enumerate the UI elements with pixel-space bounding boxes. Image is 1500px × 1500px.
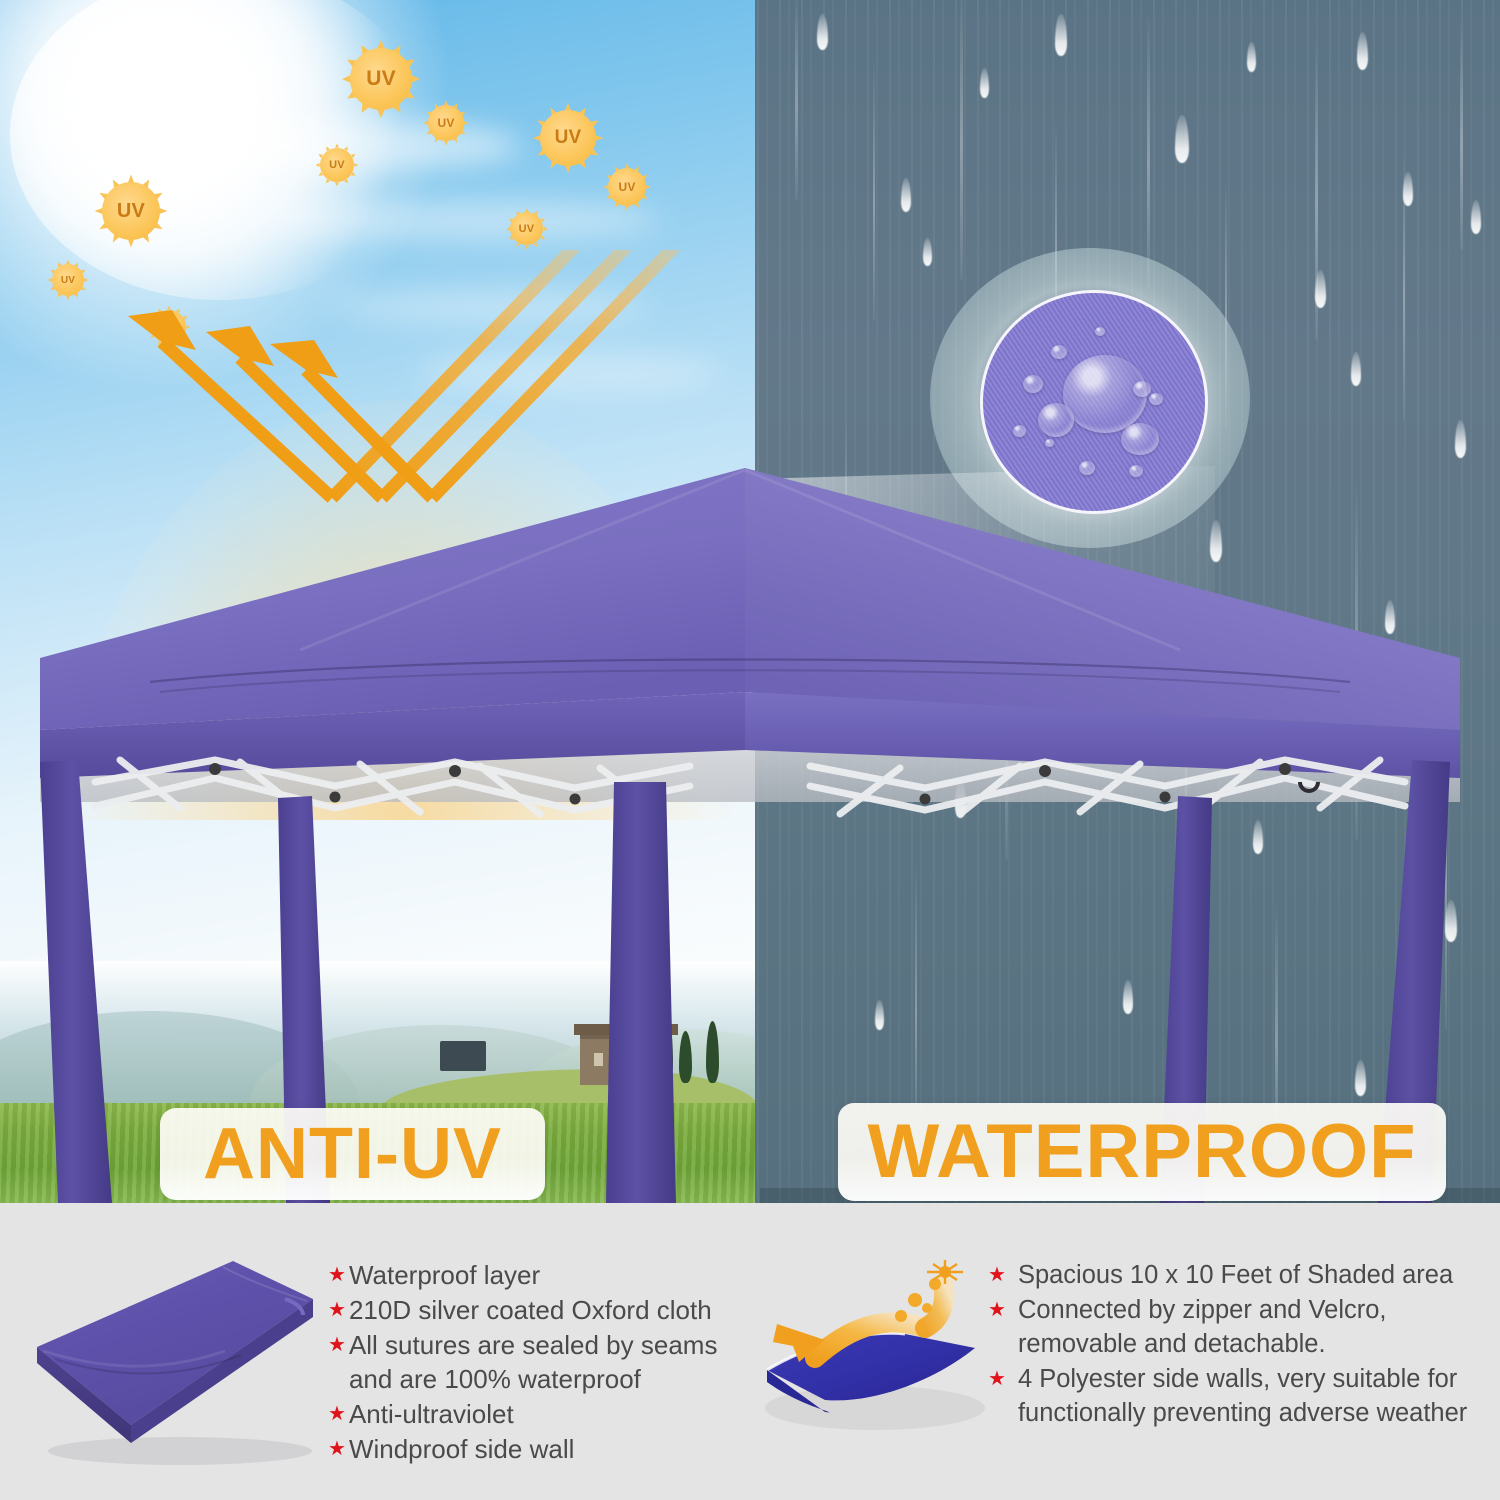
sun-ray (525, 245, 529, 249)
rain-drop (1351, 352, 1361, 386)
uv-sun-icon: UV (608, 168, 646, 206)
water-bead (1133, 381, 1151, 397)
uv-sun-icon: UV (350, 48, 412, 110)
sun-ray (646, 185, 651, 189)
spec-item: ★ 210D silver coated Oxford cloth (328, 1293, 718, 1327)
sun-ray (565, 165, 571, 173)
sun-ray (595, 135, 603, 141)
spec-item: ★ Waterproof layer (328, 1258, 718, 1292)
anti-uv-banner: ANTI-UV (160, 1108, 545, 1200)
product-infographic: UV UV UV UV UV UV UV UV (0, 0, 1500, 1500)
rain-drop (1471, 200, 1481, 234)
waterproof-banner-label: WATERPROOF (867, 1114, 1416, 1190)
spec-text: Spacious 10 x 10 Feet of Shaded area (1018, 1258, 1453, 1292)
uv-sun-icon: UV (102, 182, 160, 240)
sun-ray (464, 121, 469, 125)
uv-sun-label: UV (540, 110, 596, 166)
uv-sun-label: UV (350, 48, 412, 110)
sun-ray (316, 163, 320, 167)
spec-item: ★ Connected by zipper and Velcro, remova… (988, 1293, 1480, 1361)
sun-ray (84, 278, 88, 282)
sun-ray (543, 227, 547, 231)
uv-sun-icon: UV (428, 105, 464, 141)
sun-ray (444, 141, 448, 146)
rain-drop (1247, 42, 1256, 72)
sun-ray (335, 144, 339, 148)
rain-drop (817, 14, 828, 50)
sun-ray (411, 75, 420, 83)
spec-text: 210D silver coated Oxford cloth (349, 1293, 712, 1327)
canopy-tent (0, 430, 1500, 1203)
uv-sun-icon: UV (540, 110, 596, 166)
star-bullet-icon: ★ (328, 1397, 346, 1431)
rain-drop (923, 238, 932, 266)
spec-list-right: ★ Spacious 10 x 10 Feet of Shaded area ★… (988, 1258, 1480, 1431)
rain-drop (1403, 172, 1413, 206)
spec-item: ★ Spacious 10 x 10 Feet of Shaded area (988, 1258, 1480, 1292)
spec-item: ★ 4 Polyester side walls, very suitable … (988, 1362, 1480, 1430)
star-bullet-icon: ★ (988, 1362, 1006, 1396)
sun-ray (66, 296, 70, 300)
rain-drop (901, 178, 911, 212)
star-bullet-icon: ★ (328, 1432, 346, 1466)
spec-text: Anti-ultraviolet (349, 1397, 514, 1431)
rain-drop (1175, 115, 1189, 163)
uv-sun-label: UV (510, 212, 543, 245)
rain-drop (980, 68, 989, 98)
rain-drop (1315, 270, 1326, 308)
star-bullet-icon: ★ (328, 1293, 346, 1327)
water-bead (1095, 327, 1105, 336)
sun-ray (377, 109, 385, 118)
waterproof-banner: WATERPROOF (838, 1103, 1446, 1201)
spec-text: Windproof side wall (349, 1432, 574, 1466)
spec-text: All sutures are sealed by seams and are … (349, 1328, 718, 1396)
uv-sun-icon: UV (52, 264, 84, 296)
spec-item: ★ Anti-ultraviolet (328, 1397, 718, 1431)
water-bead (1149, 393, 1163, 405)
cloud-wisp (260, 200, 660, 240)
uv-sun-label: UV (320, 148, 354, 182)
sun-ray (625, 206, 629, 211)
spec-text: Connected by zipper and Velcro, removabl… (1018, 1293, 1480, 1361)
star-bullet-icon: ★ (328, 1328, 346, 1362)
rain-drop (1357, 32, 1368, 70)
star-bullet-icon: ★ (988, 1258, 1006, 1292)
water-bead (1051, 345, 1067, 359)
sun-ray (354, 163, 358, 167)
sun-ray (335, 182, 339, 186)
uv-sheet-icon (755, 1258, 990, 1468)
star-bullet-icon: ★ (328, 1258, 346, 1292)
uv-sun-icon: UV (320, 148, 354, 182)
spec-text: 4 Polyester side walls, very suitable fo… (1018, 1362, 1480, 1430)
uv-sun-label: UV (102, 182, 160, 240)
sun-ray (128, 239, 134, 247)
uv-sun-icon: UV (510, 212, 543, 245)
rain-drop (1055, 14, 1067, 56)
spec-list-left: ★ Waterproof layer ★ 210D silver coated … (328, 1258, 718, 1467)
spec-item: ★ Windproof side wall (328, 1432, 718, 1466)
folded-fabric-image (35, 1255, 315, 1480)
hero-split-scene: UV UV UV UV UV UV UV UV (0, 0, 1500, 1203)
uv-sun-label: UV (52, 264, 84, 296)
spec-text: Waterproof layer (349, 1258, 540, 1292)
uv-sun-label: UV (608, 168, 646, 206)
water-bead (1023, 375, 1043, 393)
uv-sun-label: UV (428, 105, 464, 141)
anti-uv-banner-label: ANTI-UV (203, 1118, 502, 1190)
spec-item: ★ All sutures are sealed by seams and ar… (328, 1328, 718, 1396)
star-bullet-icon: ★ (988, 1293, 1006, 1327)
sun-ray (159, 208, 167, 214)
